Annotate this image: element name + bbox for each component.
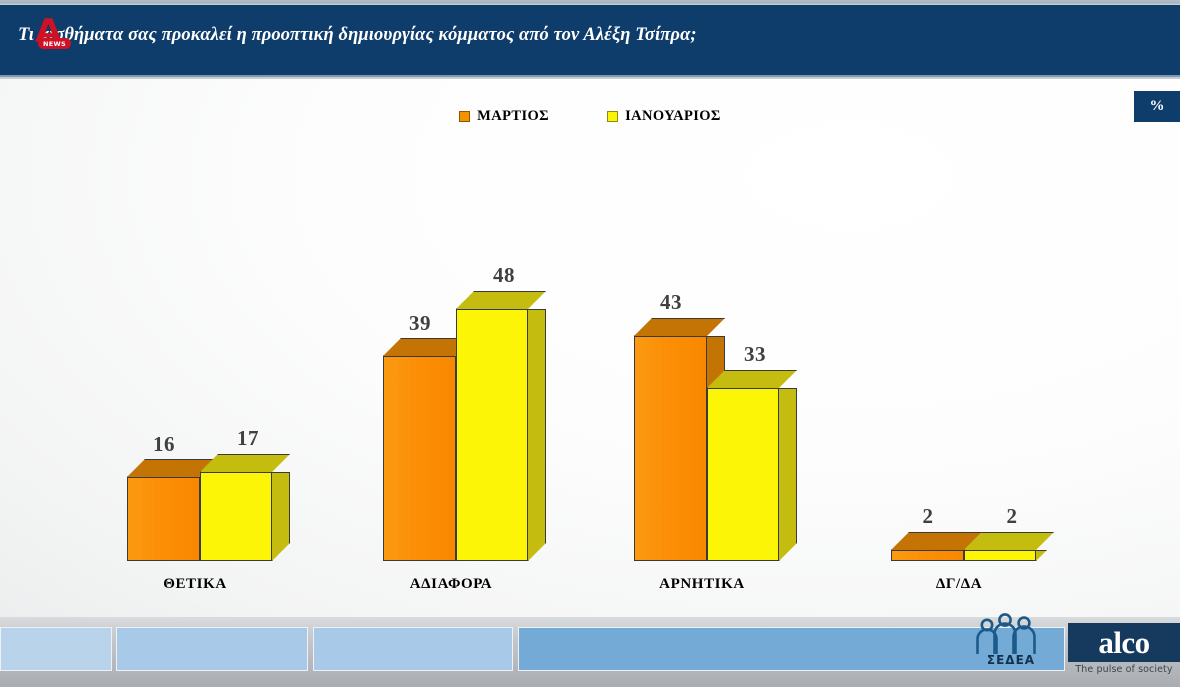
category-label-adiafora: ΑΔΙΑΦΟΡΑ xyxy=(341,576,561,593)
bar-side-face xyxy=(1036,550,1054,561)
bar-ianouarios-thetika[interactable] xyxy=(200,472,272,561)
bar-front-face xyxy=(964,550,1036,561)
alpha-news-logo: Α NEWS xyxy=(34,16,74,52)
bar-front-face xyxy=(707,388,779,561)
bar-value-label: 33 xyxy=(715,342,795,367)
bar-top-face xyxy=(456,291,546,309)
plot-area: 16 17 ΘΕΤΙΚΑ 39 48 ΑΔΙΑΦΟΡΑ xyxy=(0,79,1180,617)
bar-front-face xyxy=(127,477,200,561)
bar-ianouarios-adiafora[interactable] xyxy=(456,309,528,561)
bar-ianouarios-arnitika[interactable] xyxy=(707,388,779,561)
bar-side-face xyxy=(779,388,797,561)
sedea-label: ΣΕΔΕΑ xyxy=(963,653,1059,667)
alco-tagline: The pulse of society xyxy=(1068,664,1180,675)
bar-martios-arnitika[interactable] xyxy=(634,336,707,561)
bar-front-face xyxy=(456,309,528,561)
bar-front-face xyxy=(634,336,707,561)
bar-value-label: 2 xyxy=(972,504,1052,529)
footer-segment-2 xyxy=(116,627,308,671)
bar-ianouarios-dgda[interactable] xyxy=(964,550,1036,561)
alco-logo-box: alco xyxy=(1068,623,1180,662)
bar-martios-adiafora[interactable] xyxy=(383,356,456,561)
category-label-thetika: ΘΕΤΙΚΑ xyxy=(85,576,305,593)
bar-side-face xyxy=(528,309,546,561)
slide-header: Τι αισθήματα σας προκαλεί η προοπτική δη… xyxy=(0,5,1180,77)
category-label-dgda: ΔΓ/ΔΑ xyxy=(849,576,1069,593)
sedea-logo: ΣΕΔΕΑ xyxy=(963,612,1059,672)
page-title: Τι αισθήματα σας προκαλεί η προοπτική δη… xyxy=(18,25,697,46)
sedea-people-icon xyxy=(963,612,1059,656)
bar-value-label: 39 xyxy=(380,311,460,336)
bar-value-label: 17 xyxy=(208,426,288,451)
bar-value-label: 48 xyxy=(464,263,544,288)
bar-front-face xyxy=(891,550,964,561)
footer-segment-3 xyxy=(313,627,513,671)
alco-label: alco xyxy=(1098,627,1149,658)
footer-segment-1 xyxy=(0,627,112,671)
slide-root: Τι αισθήματα σας προκαλεί η προοπτική δη… xyxy=(0,0,1180,687)
bar-value-label: 16 xyxy=(124,432,204,457)
alpha-news-badge: NEWS xyxy=(38,38,71,49)
bar-martios-thetika[interactable] xyxy=(127,477,200,561)
bar-top-face xyxy=(634,318,725,336)
bar-top-face xyxy=(200,454,290,472)
bar-value-label: 43 xyxy=(631,290,711,315)
bar-front-face xyxy=(200,472,272,561)
category-label-arnitika: ΑΡΝΗΤΙΚΑ xyxy=(592,576,812,593)
bar-side-face xyxy=(272,472,290,561)
bar-front-face xyxy=(383,356,456,561)
bar-martios-dgda[interactable] xyxy=(891,550,964,561)
bar-value-label: 2 xyxy=(888,504,968,529)
